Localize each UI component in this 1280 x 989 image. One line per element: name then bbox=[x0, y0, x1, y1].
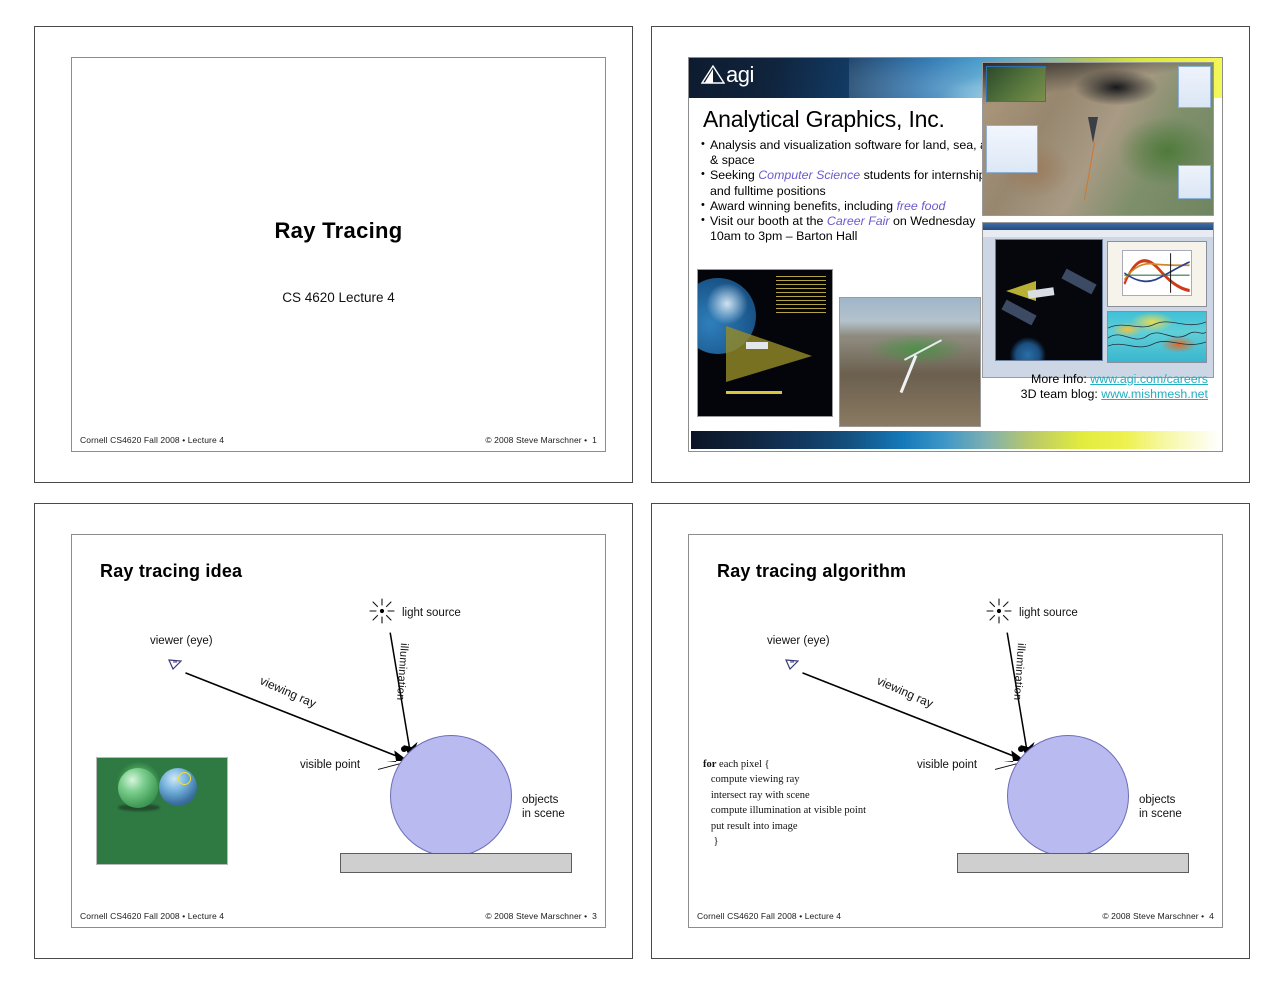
left-properties-panel bbox=[986, 125, 1038, 173]
pseudocode-line-2: intersect ray with scene bbox=[703, 790, 810, 801]
handout-frame-4: Ray tracing algorithm bbox=[651, 503, 1250, 960]
bullet-4-text: Visit our booth at the Career Fair on We… bbox=[710, 214, 975, 243]
slide-4[interactable]: Ray tracing algorithm bbox=[688, 534, 1223, 929]
team-blog-label: 3D team blog: bbox=[1021, 387, 1102, 401]
agi-logo: agi bbox=[701, 65, 754, 85]
handout-frame-3: Ray tracing idea bbox=[34, 503, 633, 960]
scene-sphere bbox=[390, 735, 512, 857]
earth-satellite-sensor-cone-image bbox=[697, 269, 833, 417]
telemetry-readout-text bbox=[776, 276, 826, 316]
footer-left-text: Cornell CS4620 Fall 2008 • Lecture 4 bbox=[80, 911, 224, 921]
pseudocode-line-3: compute illumination at visible point bbox=[703, 805, 866, 816]
agi-footer-gradient-bar bbox=[691, 431, 1220, 449]
green-sphere bbox=[118, 768, 158, 808]
slide-2[interactable]: agi Analytical Graphics, Inc. Analysis a… bbox=[688, 57, 1223, 452]
terrain-flight-trajectory-image bbox=[839, 297, 981, 427]
objects-line-1: objects bbox=[522, 794, 558, 806]
list-item: Analysis and visualization software for … bbox=[701, 138, 1001, 168]
objects-in-scene-label: objects in scene bbox=[522, 793, 565, 821]
light-source-label: light source bbox=[402, 607, 461, 619]
objects-line-1: objects bbox=[1139, 794, 1175, 806]
more-info-line: More Info: www.agi.com/careers bbox=[1021, 372, 1208, 388]
pseudocode-closing: } bbox=[703, 836, 719, 847]
list-item: Seeking Computer Science students for in… bbox=[701, 168, 1001, 198]
objects-in-scene-label: objects in scene bbox=[1139, 793, 1182, 821]
space-station-analysis-screenshot bbox=[982, 222, 1214, 378]
footer-left-text: Cornell CS4620 Fall 2008 • Lecture 4 bbox=[697, 911, 841, 921]
scene-sphere bbox=[1007, 735, 1129, 857]
visible-point-dot bbox=[401, 746, 407, 752]
slide-1-title: Ray Tracing bbox=[72, 218, 605, 244]
overview-map-inset bbox=[986, 66, 1046, 102]
solar-panel-right bbox=[1061, 269, 1096, 295]
flight-track-line bbox=[1084, 142, 1095, 199]
pseudocode-block: for each pixel { compute viewing ray int… bbox=[703, 757, 866, 850]
footer-left-text: Cornell CS4620 Fall 2008 • Lecture 4 bbox=[80, 435, 224, 445]
ray-tracing-algorithm-diagram: viewer (eye) light source illumination v… bbox=[689, 535, 1222, 928]
list-item: Visit our booth at the Career Fair on We… bbox=[701, 214, 1001, 244]
agi-bullet-list: Analysis and visualization software for … bbox=[701, 138, 1001, 244]
slide-1-footer: Cornell CS4620 Fall 2008 • Lecture 4 © 2… bbox=[72, 435, 605, 445]
handout-frame-1: Ray Tracing CS 4620 Lecture 4 Cornell CS… bbox=[34, 26, 633, 483]
pseudocode-line-1: compute viewing ray bbox=[703, 774, 800, 785]
scene-floor bbox=[340, 853, 572, 873]
slide-handout-sheet: Ray Tracing CS 4620 Lecture 4 Cornell CS… bbox=[0, 0, 1280, 989]
slide-1-subtitle: CS 4620 Lecture 4 bbox=[72, 290, 605, 305]
viewer-eye-icon bbox=[168, 657, 182, 669]
agi-careers-link[interactable]: www.agi.com/careers bbox=[1090, 372, 1208, 386]
visible-point-dot bbox=[1018, 746, 1024, 752]
pseudocode-line-4: put result into image bbox=[703, 821, 798, 832]
agi-links-block: More Info: www.agi.com/careers 3D team b… bbox=[1021, 372, 1208, 403]
trajectory-line-2 bbox=[904, 339, 942, 360]
station-3d-view bbox=[995, 239, 1103, 361]
accent-italic-text: free food bbox=[896, 199, 945, 213]
light-source-icon bbox=[985, 597, 1013, 625]
viewer-eye-icon bbox=[785, 657, 799, 669]
timeline-chart-panel bbox=[1107, 241, 1207, 307]
aircraft-icon bbox=[1088, 117, 1098, 143]
rendered-spheres-thumbnail bbox=[96, 757, 228, 865]
footer-right-text: © 2008 Steve Marschner • 4 bbox=[1102, 911, 1214, 921]
pseudocode-header-rest: each pixel { bbox=[716, 759, 769, 770]
footer-right-text: © 2008 Steve Marschner • 3 bbox=[485, 911, 597, 921]
objects-line-2: in scene bbox=[522, 808, 565, 820]
slide-3[interactable]: Ray tracing idea bbox=[71, 534, 606, 929]
right-panel-bottom bbox=[1178, 165, 1211, 199]
window-titlebar bbox=[983, 223, 1213, 230]
right-panel-top bbox=[1178, 66, 1211, 108]
objects-line-2: in scene bbox=[1139, 808, 1182, 820]
viewer-label: viewer (eye) bbox=[767, 635, 830, 647]
pseudocode-keyword: for bbox=[703, 759, 716, 770]
agi-headline: Analytical Graphics, Inc. bbox=[703, 106, 945, 133]
bullet-1-text: Analysis and visualization software for … bbox=[710, 138, 997, 167]
window-menubar bbox=[983, 230, 1213, 237]
list-item: Award winning benefits, including free f… bbox=[701, 199, 1001, 214]
world-heatmap-panel bbox=[1107, 311, 1207, 363]
trajectory-line-1 bbox=[900, 355, 918, 393]
ray-tracing-idea-diagram: viewer (eye) light source illumination v… bbox=[72, 535, 605, 928]
agi-logo-text: agi bbox=[726, 65, 754, 85]
bullet-3-text: Award winning benefits, including free f… bbox=[710, 199, 945, 213]
terrain-aircraft-screenshot bbox=[982, 62, 1214, 216]
slide-3-footer: Cornell CS4620 Fall 2008 • Lecture 4 © 2… bbox=[72, 911, 605, 921]
team-blog-line: 3D team blog: www.mishmesh.net bbox=[1021, 387, 1208, 403]
scene-floor bbox=[957, 853, 1189, 873]
satellite-body bbox=[746, 342, 768, 349]
light-source-icon bbox=[368, 597, 396, 625]
light-source-label: light source bbox=[1019, 607, 1078, 619]
visible-point-label: visible point bbox=[917, 759, 977, 771]
handout-frame-2: agi Analytical Graphics, Inc. Analysis a… bbox=[651, 26, 1250, 483]
solar-panel-left bbox=[1001, 300, 1036, 326]
sensor-cone bbox=[726, 326, 812, 382]
footer-right-text: © 2008 Steve Marschner • 1 bbox=[485, 435, 597, 445]
viewer-label: viewer (eye) bbox=[150, 635, 213, 647]
mishmesh-link[interactable]: www.mishmesh.net bbox=[1101, 387, 1208, 401]
accent-italic-text: Computer Science bbox=[758, 168, 860, 182]
highlight-annotation-circle bbox=[178, 772, 191, 785]
visible-point-label: visible point bbox=[300, 759, 360, 771]
slide-1[interactable]: Ray Tracing CS 4620 Lecture 4 Cornell CS… bbox=[71, 57, 606, 452]
velocity-vector-arrow bbox=[726, 391, 782, 394]
slide-4-footer: Cornell CS4620 Fall 2008 • Lecture 4 © 2… bbox=[689, 911, 1222, 921]
agi-triangle-icon bbox=[701, 65, 725, 85]
agi-recruiting-slide: agi Analytical Graphics, Inc. Analysis a… bbox=[689, 58, 1222, 451]
accent-italic-text: Career Fair bbox=[827, 214, 890, 228]
more-info-label: More Info: bbox=[1031, 372, 1090, 386]
chart-plot-area bbox=[1122, 250, 1192, 296]
bullet-2-text: Seeking Computer Science students for in… bbox=[710, 168, 992, 197]
